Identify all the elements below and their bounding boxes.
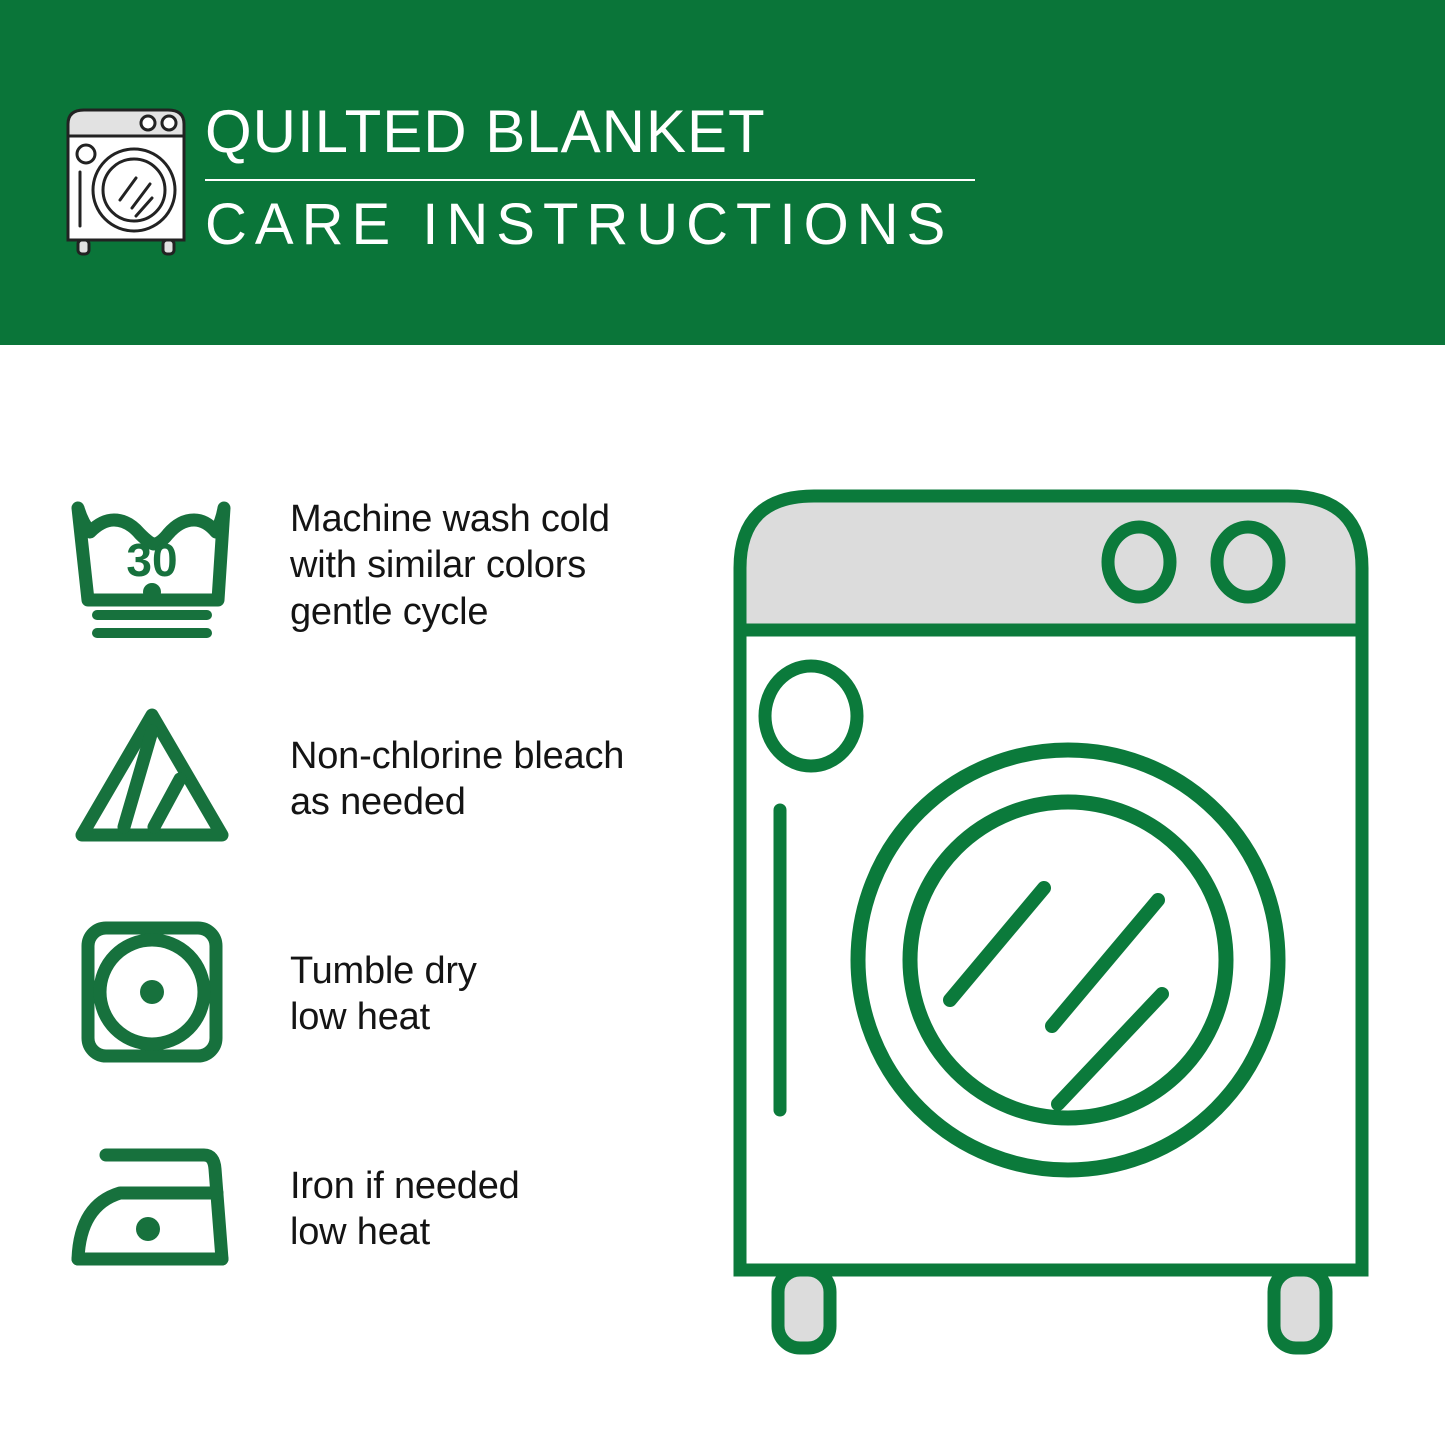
care-text-line: with similar colors [290,542,690,588]
care-text-line: Iron if needed [290,1163,690,1209]
care-item-iron: Iron if needed low heat [0,1115,700,1330]
page-subtitle: CARE INSTRUCTIONS [205,195,995,256]
care-item-tumble-dry: Tumble dry low heat [0,900,700,1115]
care-text-line: low heat [290,1209,690,1255]
care-item-bleach: Non-chlorine bleach as needed [0,685,700,900]
care-item-wash-label: Machine wash cold with similar colors ge… [290,496,690,635]
care-text-line: low heat [290,994,690,1040]
wash-tub-30-gentle-icon: 30 [68,488,233,648]
care-item-tumble-dry-label: Tumble dry low heat [290,948,690,1041]
care-text-line: Tumble dry [290,948,690,994]
header-title-block: QUILTED BLANKET CARE INSTRUCTIONS [205,100,995,256]
care-item-wash: 30 Machine wash cold with similar colors… [0,470,700,685]
header-banner: QUILTED BLANKET CARE INSTRUCTIONS [0,0,1445,345]
washing-machine-icon [62,104,190,256]
care-text-line: Machine wash cold [290,496,690,542]
care-text-line: gentle cycle [290,589,690,635]
tumble-dry-low-heat-icon [78,920,243,1080]
care-instruction-list: 30 Machine wash cold with similar colors… [0,470,700,1330]
iron-low-heat-icon [68,1143,233,1303]
care-item-bleach-label: Non-chlorine bleach as needed [290,733,690,826]
title-divider [205,179,975,181]
page-title: QUILTED BLANKET [205,100,995,163]
svg-text:30: 30 [126,534,177,586]
care-item-iron-label: Iron if needed low heat [290,1163,690,1256]
care-text-line: as needed [290,779,690,825]
front-load-washing-machine-illustration [718,470,1418,1360]
non-chlorine-bleach-triangle-icon [70,703,235,863]
care-text-line: Non-chlorine bleach [290,733,690,779]
